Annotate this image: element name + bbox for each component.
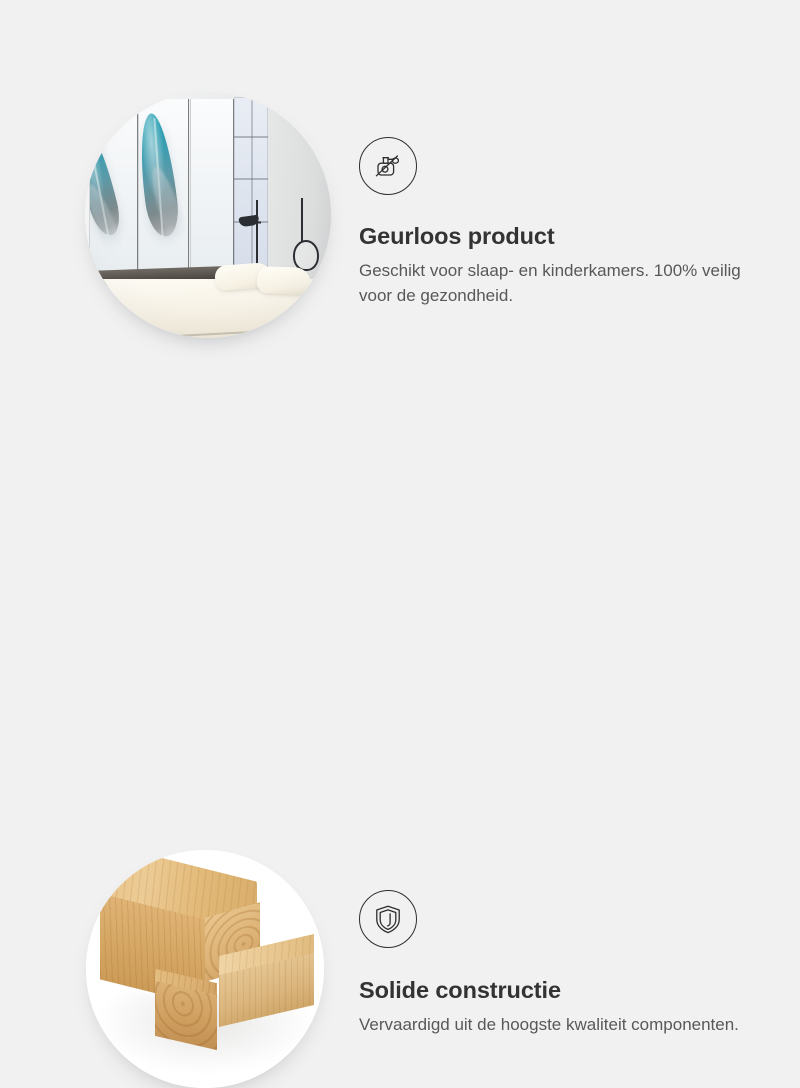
wooden-blocks-scene bbox=[86, 850, 324, 1088]
product-features-page: Geurloos product Geschikt voor slaap- en… bbox=[0, 0, 800, 800]
pillow bbox=[257, 266, 312, 295]
shield-icon bbox=[359, 890, 417, 948]
pendant-lamp-bulb bbox=[293, 240, 319, 271]
feature-description: Geschikt voor slaap- en kinderkamers. 10… bbox=[359, 259, 744, 308]
room-background bbox=[85, 92, 331, 338]
feature-image-bedroom bbox=[85, 92, 331, 338]
feature-title: Geurloos product bbox=[359, 222, 759, 250]
pendant-lamp-cord bbox=[301, 198, 303, 242]
art-panel bbox=[139, 99, 188, 271]
feature-text-solid-construction: Solide constructie Vervaardigd uit de ho… bbox=[359, 890, 759, 1038]
feature-text-odourless: Geurloos product Geschikt voor slaap- en… bbox=[359, 137, 759, 308]
feature-description: Vervaardigd uit de hoogste kwaliteit com… bbox=[359, 1013, 744, 1038]
window bbox=[234, 97, 268, 274]
feature-image-wooden-blocks bbox=[86, 850, 324, 1088]
bedroom-scene bbox=[85, 92, 331, 338]
feature-block-odourless: Geurloos product Geschikt voor slaap- en… bbox=[0, 0, 800, 400]
duvet-fold bbox=[123, 330, 266, 338]
feature-block-solid-construction: Solide constructie Vervaardigd uit de ho… bbox=[0, 400, 800, 800]
feature-title: Solide constructie bbox=[359, 976, 759, 1004]
no-fragrance-icon bbox=[359, 137, 417, 195]
wood-background bbox=[86, 850, 324, 1088]
art-panel bbox=[191, 99, 233, 271]
art-panel bbox=[90, 99, 137, 271]
window-mullion bbox=[251, 97, 253, 274]
